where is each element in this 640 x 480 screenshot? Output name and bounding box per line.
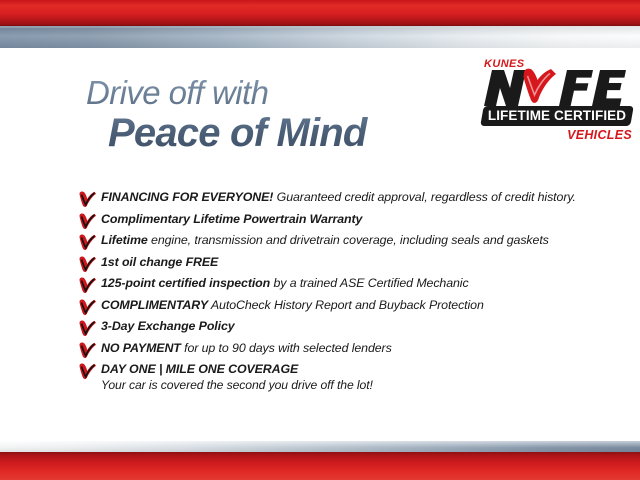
kunes-no-fear-logo: KUNES LIFETIME CERTIFIED VEHICLES <box>466 54 640 162</box>
logo-letters-fear <box>559 70 626 106</box>
list-item-bold: NO PAYMENT <box>101 341 181 355</box>
benefits-list: FINANCING FOR EVERYONE! Guaranteed credi… <box>78 190 598 398</box>
list-item-text: FINANCING FOR EVERYONE! Guaranteed credi… <box>101 190 598 205</box>
bottom-gray-band <box>0 441 640 452</box>
list-item-bold: Complimentary Lifetime Powertrain Warran… <box>101 212 362 226</box>
logo-lifetime-certified-text: LIFETIME CERTIFIED <box>482 106 632 126</box>
top-red-band <box>0 0 640 26</box>
logo-letter-n <box>484 70 526 106</box>
list-item-text: 1st oil change FREE <box>101 255 598 270</box>
list-item-text: 3-Day Exchange Policy <box>101 319 598 334</box>
logo-no-fear-wordmark <box>480 68 640 108</box>
list-item-text: NO PAYMENT for up to 90 days with select… <box>101 341 598 356</box>
list-item-bold: FINANCING FOR EVERYONE! <box>101 190 273 204</box>
top-gray-band <box>0 26 640 48</box>
headline-line-2: Peace of Mind <box>108 113 476 153</box>
list-item-subtext: Your car is covered the second you drive… <box>101 378 598 393</box>
list-item-rest: by a trained ASE Certified Mechanic <box>270 276 468 290</box>
list-item: NO PAYMENT for up to 90 days with select… <box>78 341 598 358</box>
list-item: FINANCING FOR EVERYONE! Guaranteed credi… <box>78 190 598 207</box>
list-item-rest: AutoCheck History Report and Buyback Pro… <box>208 298 484 312</box>
list-item-bold: COMPLIMENTARY <box>101 298 208 312</box>
list-item-text: Complimentary Lifetime Powertrain Warran… <box>101 212 598 227</box>
list-item-bold: 3-Day Exchange Policy <box>101 319 235 333</box>
list-item: 3-Day Exchange Policy <box>78 319 598 336</box>
list-item: 125-point certified inspection by a trai… <box>78 276 598 293</box>
list-item-bold: 1st oil change FREE <box>101 255 218 269</box>
top-gray-band-highlight <box>0 26 640 28</box>
list-item: Complimentary Lifetime Powertrain Warran… <box>78 212 598 229</box>
heart-check-bullet-icon <box>78 191 96 207</box>
heart-check-bullet-icon <box>78 213 96 229</box>
heart-check-bullet-icon <box>78 342 96 358</box>
heart-check-bullet-icon <box>78 320 96 336</box>
list-item: COMPLIMENTARY AutoCheck History Report a… <box>78 298 598 315</box>
list-item: DAY ONE | MILE ONE COVERAGE Your car is … <box>78 362 598 393</box>
headline-line-1: Drive off with <box>86 76 476 109</box>
promo-poster: Drive off with Peace of Mind KUNES LIFET… <box>0 0 640 480</box>
list-item-text: Lifetime engine, transmission and drivet… <box>101 233 598 248</box>
heart-check-bullet-icon <box>78 256 96 272</box>
list-item-rest: engine, transmission and drivetrain cove… <box>148 233 549 247</box>
bottom-red-band <box>0 452 640 480</box>
logo-lifetime-certified-bar: LIFETIME CERTIFIED <box>480 106 634 126</box>
headline-block: Drive off with Peace of Mind <box>86 76 476 153</box>
list-item-rest: for up to 90 days with selected lenders <box>181 341 392 355</box>
heart-check-bullet-icon <box>78 234 96 250</box>
heart-check-bullet-icon <box>78 299 96 315</box>
list-item: 1st oil change FREE <box>78 255 598 272</box>
list-item-text: DAY ONE | MILE ONE COVERAGE Your car is … <box>101 362 598 393</box>
list-item-bold: Lifetime <box>101 233 148 247</box>
heart-check-bullet-icon <box>78 277 96 293</box>
list-item-text: COMPLIMENTARY AutoCheck History Report a… <box>101 298 598 313</box>
list-item: Lifetime engine, transmission and drivet… <box>78 233 598 250</box>
list-item-bold: DAY ONE | MILE ONE COVERAGE <box>101 362 298 376</box>
list-item-bold: 125-point certified inspection <box>101 276 270 290</box>
heart-check-icon <box>524 69 557 103</box>
list-item-text: 125-point certified inspection by a trai… <box>101 276 598 291</box>
list-item-rest: Guaranteed credit approval, regardless o… <box>273 190 576 204</box>
logo-vehicles-text: VEHICLES <box>466 128 632 142</box>
heart-check-bullet-icon <box>78 363 96 379</box>
